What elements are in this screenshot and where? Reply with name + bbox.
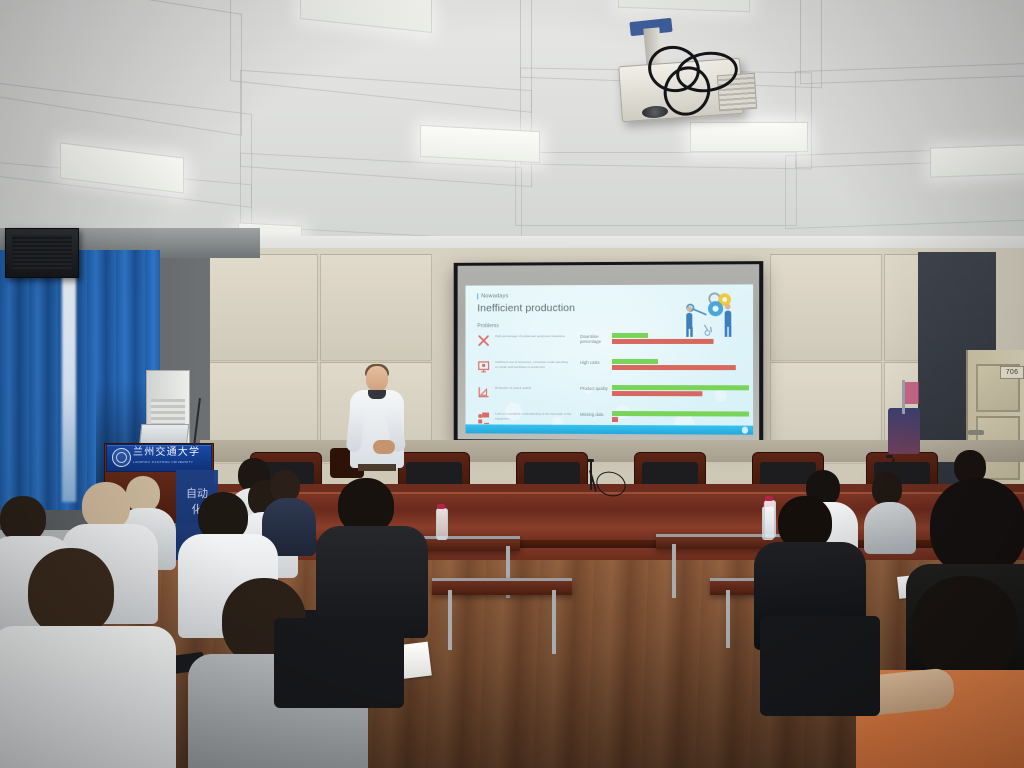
people-with-gears-illustration xyxy=(674,290,741,338)
equipment-stand xyxy=(888,408,920,454)
screen-surface: Nowadays Inefficient production Problems xyxy=(458,264,760,441)
monitor-board-icon xyxy=(477,360,490,373)
problem-category: High costs xyxy=(580,360,610,365)
problem-description: Lack of a complete understanding of the … xyxy=(495,412,572,421)
head xyxy=(912,576,1018,680)
microphone-head-icon xyxy=(587,459,594,462)
window-light-gap xyxy=(62,252,76,502)
head xyxy=(930,478,1024,576)
problem-row: High percentage of unplanned equipment d… xyxy=(477,333,752,351)
bar-green xyxy=(612,385,749,390)
crossed-tools-icon xyxy=(477,334,490,347)
bar-green xyxy=(612,411,749,416)
presenter-standing xyxy=(346,366,406,486)
problem-row: Inefficient use of resources, excessive … xyxy=(477,359,752,377)
water-bottle xyxy=(764,500,776,538)
bar-green xyxy=(612,333,648,338)
person-report-icon xyxy=(477,412,490,425)
desk-leg xyxy=(552,590,556,654)
bar-red xyxy=(612,365,736,370)
slide-kicker: Nowadays xyxy=(477,293,508,299)
head xyxy=(82,482,130,530)
university-seal-icon xyxy=(112,448,131,467)
ceiling-light-panel xyxy=(930,144,1024,177)
problem-description: Reduction of output quality xyxy=(495,386,572,391)
problem-category: Missing data xyxy=(580,412,610,417)
bar-green xyxy=(612,359,658,364)
university-name-cn: 兰州交通大学 xyxy=(133,447,209,459)
presenter-collar xyxy=(368,390,386,399)
presenter-hands xyxy=(373,440,395,454)
bar-red xyxy=(612,417,618,422)
chart-graph-icon xyxy=(477,386,490,399)
projection-screen: Nowadays Inefficient production Problems xyxy=(454,261,764,445)
head xyxy=(126,476,160,512)
problem-description: Inefficient use of resources, excessive … xyxy=(495,360,572,369)
problem-bars xyxy=(612,359,753,372)
torso xyxy=(864,502,916,554)
head xyxy=(872,472,902,506)
chair xyxy=(760,616,880,716)
problem-category: Downtime percentage xyxy=(580,334,610,344)
circle-logo-icon xyxy=(741,427,748,434)
bar-red xyxy=(612,339,713,344)
chair xyxy=(274,618,404,708)
lecture-hall-photo: 706 Nowadays Inefficient production Prob… xyxy=(0,0,1024,768)
bottle-cap xyxy=(765,496,773,501)
water-bottle xyxy=(436,508,448,540)
problem-bars xyxy=(612,333,753,346)
equipment-flag xyxy=(905,382,919,404)
problem-bars xyxy=(612,411,753,424)
presenter-head xyxy=(366,366,388,392)
head xyxy=(28,548,114,636)
university-name-en: LANZHOU JIAOTONG UNIVERSITY xyxy=(133,460,209,464)
problem-bars xyxy=(612,385,753,398)
ceiling-light-panel xyxy=(690,122,808,152)
slide-footer-band xyxy=(465,424,753,434)
desk-leg xyxy=(672,544,676,598)
bottle-cap xyxy=(437,504,445,509)
room-number-plate: 706 xyxy=(1000,366,1024,379)
ceiling-light-panel xyxy=(420,125,540,163)
problem-row: Reduction of output quality Product qual… xyxy=(477,385,752,404)
torso xyxy=(0,626,176,768)
slide-title: Inefficient production xyxy=(477,302,575,314)
door-handle-icon[interactable] xyxy=(968,430,984,435)
desk-leg xyxy=(448,590,452,650)
bar-red xyxy=(612,391,702,396)
presenter-belt xyxy=(358,464,396,471)
problem-description: High percentage of unplanned equipment d… xyxy=(495,334,572,339)
presentation-slide: Nowadays Inefficient production Problems xyxy=(465,284,753,434)
slide-section-label: Problems xyxy=(477,323,499,329)
microphone-head-icon xyxy=(886,455,893,458)
student-desk xyxy=(432,578,572,595)
wall-speaker xyxy=(5,228,79,278)
problem-category: Product quality xyxy=(580,386,610,391)
desk-leg xyxy=(726,590,730,648)
